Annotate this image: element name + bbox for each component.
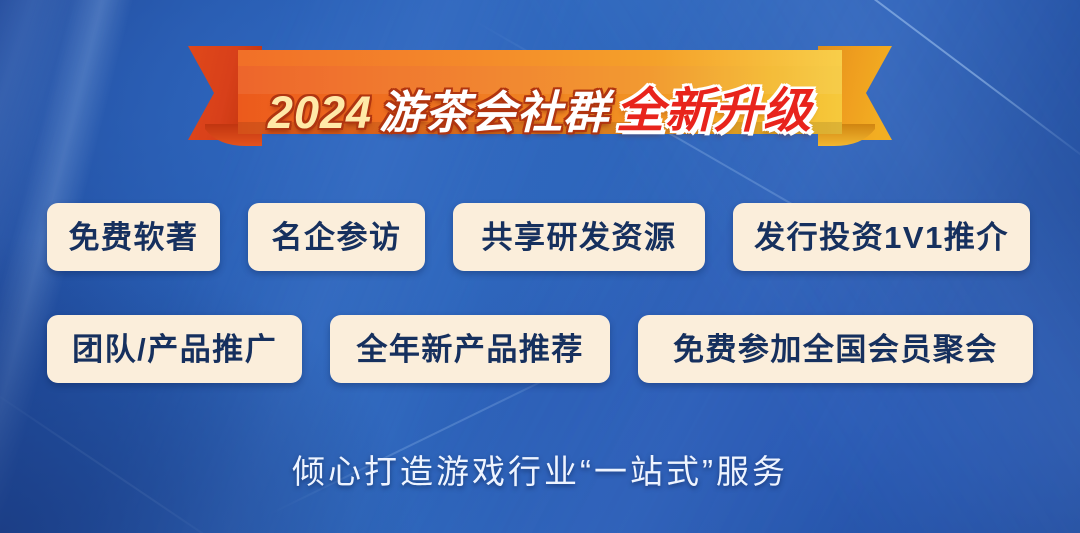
benefit-pill[interactable]: 名企参访 <box>248 203 425 271</box>
benefit-pill[interactable]: 免费软著 <box>47 203 220 271</box>
benefit-pill[interactable]: 发行投资1V1推介 <box>733 203 1030 271</box>
benefit-pill-label: 名企参访 <box>272 222 402 253</box>
benefit-pill[interactable]: 全年新产品推荐 <box>330 315 610 383</box>
benefit-pill-label: 共享研发资源 <box>482 222 677 253</box>
benefit-pill-label: 免费参加全国会员聚会 <box>673 334 998 365</box>
benefit-row-1: 免费软著 名企参访 共享研发资源 发行投资1V1推介 <box>47 203 1033 271</box>
benefit-pill[interactable]: 免费参加全国会员聚会 <box>638 315 1033 383</box>
ribbon-shape-icon <box>0 36 1080 156</box>
benefit-pill[interactable]: 团队/产品推广 <box>47 315 302 383</box>
benefit-pill-label: 全年新产品推荐 <box>356 334 584 365</box>
ribbon-banner: 2024游茶会社群全新升级 <box>0 36 1080 156</box>
benefit-pill-label: 发行投资1V1推介 <box>754 222 1009 253</box>
benefit-pill[interactable]: 共享研发资源 <box>453 203 705 271</box>
poster-tagline: 倾心打造游戏行业“一站式”服务 <box>0 455 1080 488</box>
benefit-row-2: 团队/产品推广 全年新产品推荐 免费参加全国会员聚会 <box>47 315 1033 383</box>
promo-poster: 2024游茶会社群全新升级 免费软著 名企参访 共享研发资源 发行投资1V1推介… <box>0 0 1080 533</box>
benefit-pill-label: 团队/产品推广 <box>72 334 277 365</box>
benefit-pill-label: 免费软著 <box>69 222 199 253</box>
